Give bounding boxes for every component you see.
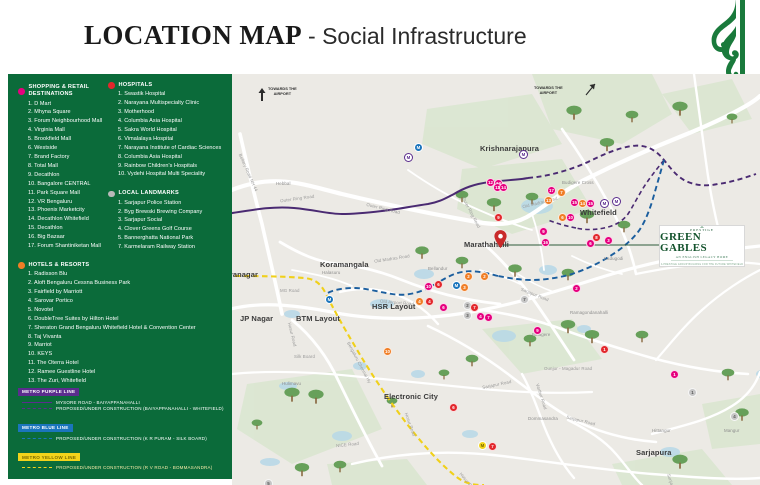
map-marker[interactable]: 6 — [586, 239, 595, 248]
map-marker[interactable]: 16 — [541, 238, 550, 247]
project-logo-card: PRESTIGE GREEN GABLES AN ENGLISH LEGACY … — [659, 225, 745, 267]
map-minor-label: Hittangur — [652, 428, 671, 433]
list-item: 4. Virginia Mall — [28, 126, 118, 135]
list-item: 5. Bannerghatta National Park — [118, 234, 234, 243]
map-marker[interactable]: 9 — [539, 227, 548, 236]
map-marker[interactable]: 7 — [520, 295, 529, 304]
map-marker[interactable]: 4 — [730, 412, 739, 421]
metro-station-marker[interactable]: M — [612, 197, 621, 206]
list-item: 4. Columbia Asia Hospital — [118, 117, 234, 126]
map-road-label: MG Road — [280, 288, 300, 293]
map-marker[interactable]: 2 — [464, 272, 473, 281]
map-marker[interactable]: 3 — [460, 283, 469, 292]
map-place-label: JP Nagar — [240, 314, 273, 323]
list-item: 1. Radisson Blu — [28, 270, 118, 279]
list-item: 8. Taj Vivanta — [28, 333, 118, 342]
list-item: 11. The Oterra Hotel — [28, 359, 118, 368]
list-item: 5. Sakra World Hospital — [118, 126, 234, 135]
dashed-line-icon — [22, 438, 52, 439]
list-item: 9. Marriot — [28, 341, 118, 350]
map-marker[interactable]: 5 — [264, 479, 273, 485]
map-place-label: Electronic City — [384, 392, 426, 401]
metro-row: MYSORE ROAD - BAIYAPPANAHALLI — [22, 400, 232, 405]
map-marker[interactable]: 7 — [488, 442, 497, 451]
list-item: 8. Columbia Asia Hospital — [118, 153, 234, 162]
map-marker[interactable]: 1 — [600, 345, 609, 354]
map-marker[interactable]: 7 — [470, 303, 479, 312]
list-item: 3. Motherhood — [118, 108, 234, 117]
list-item: 8. Total Mall — [28, 162, 118, 171]
list-item: 4. Sarovar Portico — [28, 297, 118, 306]
page-title-sub: - Social Infrastructure — [308, 23, 527, 49]
map-minor-label: Hebbal — [276, 181, 291, 186]
legend-list-landmarks: 1. Sarjapur Police Station 2. Byg Brewsk… — [118, 199, 234, 252]
map-minor-label: Mangur — [724, 428, 740, 433]
list-item: 14. Decathlon Whitefield — [28, 215, 118, 224]
list-item: 10. Vydehi Hospital Multi Speciality — [118, 170, 234, 179]
map-minor-label: Bellandur — [428, 266, 447, 271]
metro-group-purple: METRO PURPLE LINE MYSORE ROAD - BAIYAPPA… — [18, 380, 232, 411]
legend-category-hotels-title: HOTELS & RESORTS — [29, 262, 90, 269]
solid-line-icon — [22, 402, 52, 403]
map-marker[interactable]: 10 — [424, 282, 433, 291]
map-minor-label: Halasuru — [322, 270, 340, 275]
map-basemap — [232, 74, 760, 485]
legend-list-shopping: 1. D Mart 2. Mhyna Square 3. Forum Neigh… — [28, 100, 118, 251]
hospitals-bullet-icon — [108, 82, 115, 89]
legend-category-shopping-header: SHOPPING & RETAIL DESTINATIONS — [18, 84, 118, 99]
list-item: 3. Forum Neighbourhood Mall — [28, 117, 118, 126]
list-item: 4. Clover Greens Golf Course — [118, 225, 234, 234]
metro-row-label: PROPOSED/UNDER CONSTRUCTION (R V ROAD - … — [56, 465, 212, 470]
metro-station-marker[interactable]: M — [404, 153, 413, 162]
map-marker[interactable]: 15 — [586, 199, 595, 208]
landmarks-bullet-icon — [108, 191, 115, 198]
map-marker[interactable]: 7 — [484, 313, 493, 322]
logo-subline: A PRESTIGE GROUP BUILDING FOR THE FUTURE… — [661, 263, 743, 266]
list-item: 2. Byg Brewski Brewing Company — [118, 208, 234, 217]
list-item: 10. Bangalore CENTRAL — [28, 180, 118, 189]
list-item: 9. Rainbow Children's Hospitals — [118, 162, 234, 171]
legend-list-hospitals: 1. Swastik Hospital 2. Narayana Multispe… — [118, 90, 234, 179]
list-item: 7. Sheraton Grand Bengaluru Whitefield H… — [28, 324, 118, 333]
list-item: 7. Karmelaram Railway Station — [118, 243, 234, 252]
map-marker[interactable]: 7 — [557, 188, 566, 197]
legend-category-hotels: HOTELS & RESORTS 1. Radisson Blu 2. Alof… — [18, 262, 118, 386]
list-item: 2. Narayana Multispecialty Clinic — [118, 99, 234, 108]
map-place-label: Koramangala — [320, 260, 369, 269]
metro-station-marker[interactable]: M — [519, 150, 528, 159]
list-item: 12. VR Bengaluru — [28, 198, 118, 207]
legend-category-shopping: SHOPPING & RETAIL DESTINATIONS 1. D Mart… — [18, 84, 118, 251]
legend-column-right: HOSPITALS 1. Swastik Hospital 2. Narayan… — [108, 82, 234, 259]
list-item: 2. Aloft Bengaluru Cessna Business Park — [28, 279, 118, 288]
map-marker[interactable]: 9 — [494, 213, 503, 222]
map-marker[interactable]: 3 — [463, 311, 472, 320]
list-item: 6. DoubleTree Suites by Hilton Hotel — [28, 315, 118, 324]
map-marker[interactable]: 13 — [544, 196, 553, 205]
list-item: 13. Phoenix Marketcity — [28, 206, 118, 215]
map-canvas[interactable]: TOWARDS THEAIRPORT TOWARDS THEAIRPORT Kr… — [232, 74, 760, 485]
map-marker[interactable]: 3 — [604, 236, 613, 245]
metro-station-marker[interactable]: M — [325, 295, 334, 304]
map-road-label: Silk Board — [294, 354, 315, 359]
list-item: 9. Decathlon — [28, 171, 118, 180]
page-title-main: LOCATION MAP — [84, 20, 302, 50]
legend-category-landmarks-title: LOCAL LANDMARKS — [119, 190, 180, 197]
hotels-bullet-icon — [18, 262, 25, 269]
map-marker[interactable]: 6 — [449, 403, 458, 412]
metro-row: PROPOSED/UNDER CONSTRUCTION (K R PURAM -… — [22, 436, 232, 441]
legend-category-hospitals-title: HOSPITALS — [119, 82, 153, 89]
map-marker[interactable]: 1 — [670, 370, 679, 379]
list-item: 6. Westside — [28, 144, 118, 153]
metro-blue-chip: METRO BLUE LINE — [18, 424, 73, 432]
metro-station-marker[interactable]: M — [414, 143, 423, 152]
map-marker[interactable]: 4 — [415, 297, 424, 306]
legend-category-landmarks: LOCAL LANDMARKS 1. Sarjapur Police Stati… — [108, 190, 234, 252]
legend-panel: SHOPPING & RETAIL DESTINATIONS 1. D Mart… — [8, 74, 232, 479]
metro-purple-chip: METRO PURPLE LINE — [18, 388, 79, 396]
list-item: 3. Fairfield by Marriott — [28, 288, 118, 297]
legend-category-landmarks-header: LOCAL LANDMARKS — [108, 190, 234, 197]
metro-row-label: PROPOSED/UNDER CONSTRUCTION (BAIYAPPANAH… — [56, 406, 224, 411]
legend-list-hotels: 1. Radisson Blu 2. Aloft Bengaluru Cessn… — [28, 270, 118, 386]
legend-column-left: SHOPPING & RETAIL DESTINATIONS 1. D Mart… — [18, 84, 118, 393]
metro-row: PROPOSED/UNDER CONSTRUCTION (BAIYAPPANAH… — [22, 406, 232, 411]
map-place-label: Krishnarajapura — [480, 144, 539, 153]
metro-station-marker[interactable]: M — [600, 199, 609, 208]
arrow-up-icon — [258, 88, 266, 101]
list-item: 5. Brookfield Mall — [28, 135, 118, 144]
map-place-label: Whitefield — [580, 208, 617, 217]
list-item: 3. Sarjapur Social — [118, 216, 234, 225]
map-marker[interactable]: 6 — [439, 303, 448, 312]
metro-yellow-chip: METRO YELLOW LINE — [18, 453, 80, 461]
legend-category-hotels-header: HOTELS & RESORTS — [18, 262, 118, 269]
map-marker[interactable]: 10 — [566, 213, 575, 222]
map-minor-label: Ramagondanahalli — [570, 310, 608, 315]
list-item: 12. Ramee Guestline Hotel — [28, 368, 118, 377]
map-marker[interactable]: 17 — [547, 186, 556, 195]
list-item: 15. Decathlon — [28, 224, 118, 233]
map-minor-label: Hulimavu — [282, 381, 301, 386]
page-title: LOCATION MAP- Social Infrastructure — [84, 20, 527, 51]
map-place-label: BTM Layout — [296, 314, 340, 323]
metro-row-label: PROPOSED/UNDER CONSTRUCTION (K R PURAM -… — [56, 436, 207, 441]
metro-group-yellow: METRO YELLOW LINE PROPOSED/UNDER CONSTRU… — [18, 446, 232, 471]
list-item: 16. Big Bazaar — [28, 233, 118, 242]
legend-category-shopping-title: SHOPPING & RETAIL DESTINATIONS — [29, 84, 119, 99]
map-place-label: Sarjapura — [636, 448, 672, 457]
logo-brand-name: GREEN GABLES — [660, 232, 744, 254]
dashed-line-icon — [22, 467, 52, 468]
map-minor-label: Kadugodi — [604, 256, 623, 261]
map-road-label: Ounjur - Magadur Road — [544, 366, 592, 371]
logo-tagline: AN ENGLISH LEGACY HOME — [676, 255, 729, 259]
list-item: 1. Swastik Hospital — [118, 90, 234, 99]
map-marker[interactable]: 4 — [425, 297, 434, 306]
shopping-bullet-icon — [18, 88, 25, 95]
arrow-up-right-icon — [580, 83, 596, 97]
map-place-label: Jayanagar — [232, 270, 258, 279]
map-marker[interactable]: 10 — [383, 347, 392, 356]
list-item: 7. Narayana Institute of Cardiac Science… — [118, 144, 234, 153]
metro-station-marker[interactable]: M — [478, 441, 487, 450]
list-item: 10. KEYS — [28, 350, 118, 359]
list-item: 17. Forum Shantiniketan Mall — [28, 242, 118, 251]
list-item: 2. Mhyna Square — [28, 108, 118, 117]
map-marker[interactable]: 2 — [480, 272, 489, 281]
list-item: 6. Vimalalaya Hospital — [118, 135, 234, 144]
list-item: 7. Brand Factory — [28, 153, 118, 162]
location-map-page: LOCATION MAP- Social Infrastructure SHOP… — [0, 0, 760, 485]
scroll-ornament-icon — [696, 0, 748, 84]
dashed-line-icon — [22, 408, 52, 409]
map-marker[interactable]: 14 — [499, 183, 508, 192]
list-item: 5. Novotel — [28, 306, 118, 315]
towards-airport-left: TOWARDS THEAIRPORT — [268, 87, 297, 97]
map-marker[interactable]: 1 — [688, 388, 697, 397]
list-item: 1. D Mart — [28, 100, 118, 109]
prestige-green-gables-pin[interactable] — [494, 230, 507, 248]
legend-category-hospitals-header: HOSPITALS — [108, 82, 234, 89]
map-marker[interactable]: 2 — [572, 284, 581, 293]
metro-row-label: MYSORE ROAD - BAIYAPPANAHALLI — [56, 400, 140, 405]
metro-legend: METRO PURPLE LINE MYSORE ROAD - BAIYAPPA… — [18, 380, 232, 475]
legend-category-hospitals: HOSPITALS 1. Swastik Hospital 2. Narayan… — [108, 82, 234, 179]
towards-airport-right: TOWARDS THEAIRPORT — [534, 86, 563, 96]
map-minor-label: Budigere Cross — [562, 180, 594, 185]
metro-row: PROPOSED/UNDER CONSTRUCTION (R V ROAD - … — [22, 465, 232, 470]
metro-group-blue: METRO BLUE LINE PROPOSED/UNDER CONSTRUCT… — [18, 416, 232, 441]
map-marker[interactable]: 9 — [533, 326, 542, 335]
map-minor-label: Dommasandra — [528, 416, 558, 421]
page-header: LOCATION MAP- Social Infrastructure — [0, 0, 760, 70]
list-item: 11. Park Square Mall — [28, 189, 118, 198]
list-item: 1. Sarjapur Police Station — [118, 199, 234, 208]
map-marker[interactable]: 6 — [434, 280, 443, 289]
